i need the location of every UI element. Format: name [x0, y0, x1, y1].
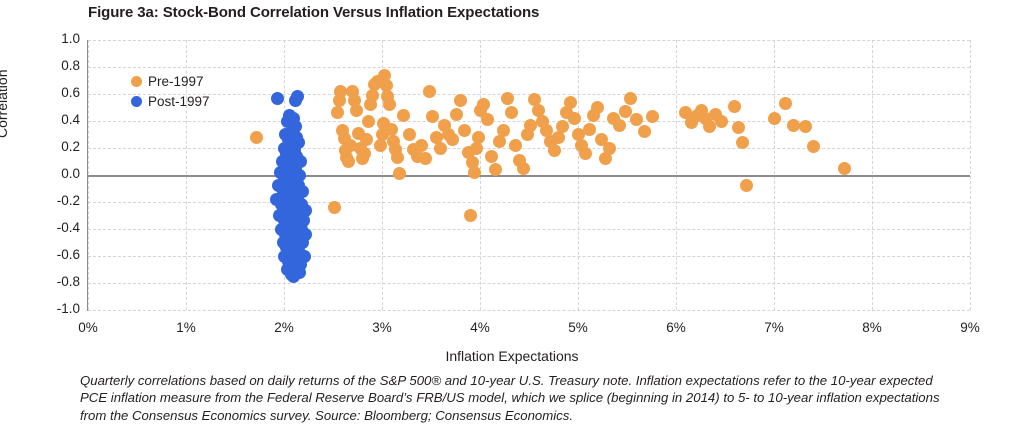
y-axis-tick-label: 0.8: [34, 58, 80, 73]
x-axis-tick-label: 3%: [352, 320, 412, 335]
legend-item-pre-1997: Pre-1997: [131, 74, 210, 89]
scatter-point: [393, 167, 406, 180]
scatter-point: [298, 250, 311, 263]
scatter-point: [624, 92, 637, 105]
y-axis-tick-label: 0.6: [34, 85, 80, 100]
gridline-horizontal: [88, 148, 970, 149]
scatter-point: [485, 150, 498, 163]
chart-title: Figure 3a: Stock-Bond Correlation Versus…: [88, 4, 539, 21]
scatter-point: [350, 104, 363, 117]
gridline-vertical: [970, 40, 971, 310]
scatter-point: [328, 201, 341, 214]
y-axis-tick-label: -1.0: [34, 301, 80, 316]
scatter-point: [385, 123, 398, 136]
scatter-point: [603, 142, 616, 155]
scatter-point: [568, 112, 581, 125]
scatter-point: [481, 113, 494, 126]
scatter-point: [468, 166, 481, 179]
gridline-horizontal: [88, 40, 970, 41]
scatter-point: [630, 113, 643, 126]
scatter-point: [446, 133, 459, 146]
scatter-point: [434, 142, 447, 155]
chart-legend: Pre-1997 Post-1997: [131, 74, 210, 109]
x-axis-tick-label: 8%: [842, 320, 902, 335]
scatter-point: [419, 152, 432, 165]
scatter-point: [458, 124, 471, 137]
y-axis-tick-label: -0.8: [34, 274, 80, 289]
scatter-point: [383, 98, 396, 111]
scatter-point: [638, 125, 651, 138]
scatter-point: [613, 119, 626, 132]
scatter-point: [287, 270, 300, 283]
scatter-point: [454, 94, 467, 107]
scatter-point: [703, 120, 716, 133]
scatter-point: [360, 133, 373, 146]
legend-marker-post-1997: [131, 96, 142, 107]
scatter-point: [271, 92, 284, 105]
x-axis-tick-label: 0%: [58, 320, 118, 335]
x-axis-tick-label: 5%: [548, 320, 608, 335]
scatter-point: [291, 90, 304, 103]
x-axis-tick-label: 4%: [450, 320, 510, 335]
x-axis-tick-label: 9%: [940, 320, 1000, 335]
scatter-point: [505, 106, 518, 119]
scatter-point: [548, 144, 561, 157]
zero-reference-line: [88, 175, 970, 177]
scatter-point: [768, 112, 781, 125]
legend-item-post-1997: Post-1997: [131, 94, 210, 109]
scatter-point: [583, 123, 596, 136]
scatter-point: [728, 100, 741, 113]
scatter-point: [477, 98, 490, 111]
scatter-point: [391, 151, 404, 164]
scatter-point: [464, 209, 477, 222]
scatter-point: [517, 162, 530, 175]
scatter-point: [362, 115, 375, 128]
figure-3a: Figure 3a: Stock-Bond Correlation Versus…: [0, 0, 1024, 442]
y-axis-tick-label: 1.0: [34, 31, 80, 46]
scatter-point: [250, 131, 263, 144]
scatter-point: [556, 120, 569, 133]
x-axis-tick-label: 1%: [156, 320, 216, 335]
gridline-horizontal: [88, 283, 970, 284]
y-axis-tick-label: -0.2: [34, 193, 80, 208]
scatter-point: [579, 147, 592, 160]
scatter-point: [342, 155, 355, 168]
x-axis-title: Inflation Expectations: [0, 348, 1024, 364]
y-axis-tick-label: 0.0: [34, 166, 80, 181]
legend-label-pre-1997: Pre-1997: [148, 74, 204, 89]
y-axis-tick-label: 0.4: [34, 112, 80, 127]
scatter-point: [591, 101, 604, 114]
gridline-horizontal: [88, 229, 970, 230]
x-axis-tick-label: 7%: [744, 320, 804, 335]
legend-marker-pre-1997: [131, 76, 142, 87]
scatter-point: [509, 139, 522, 152]
gridline-horizontal: [88, 256, 970, 257]
gridline-horizontal: [88, 67, 970, 68]
scatter-point: [331, 106, 344, 119]
y-axis-tick-label: -0.6: [34, 247, 80, 262]
scatter-point: [740, 179, 753, 192]
scatter-point: [501, 92, 514, 105]
plot-area: [88, 40, 970, 310]
scatter-point: [296, 236, 309, 249]
scatter-point: [450, 108, 463, 121]
scatter-point: [358, 147, 371, 160]
figure-footnote: Quarterly correlations based on daily re…: [80, 372, 940, 424]
scatter-point: [807, 140, 820, 153]
scatter-point: [732, 121, 745, 134]
scatter-point: [715, 115, 728, 128]
gridline-horizontal: [88, 202, 970, 203]
y-axis-title: Correlation: [0, 70, 10, 138]
scatter-point: [564, 96, 577, 109]
scatter-point: [403, 128, 416, 141]
gridline-horizontal: [88, 310, 970, 311]
scatter-point: [472, 131, 485, 144]
scatter-point: [838, 162, 851, 175]
x-axis-tick-label: 2%: [254, 320, 314, 335]
scatter-point: [497, 124, 510, 137]
scatter-point: [779, 97, 792, 110]
x-axis-tick-label: 6%: [646, 320, 706, 335]
y-axis-tick-label: 0.2: [34, 139, 80, 154]
scatter-point: [799, 120, 812, 133]
scatter-point: [423, 85, 436, 98]
scatter-point: [415, 139, 428, 152]
legend-label-post-1997: Post-1997: [148, 94, 210, 109]
y-axis-tick-label: -0.4: [34, 220, 80, 235]
